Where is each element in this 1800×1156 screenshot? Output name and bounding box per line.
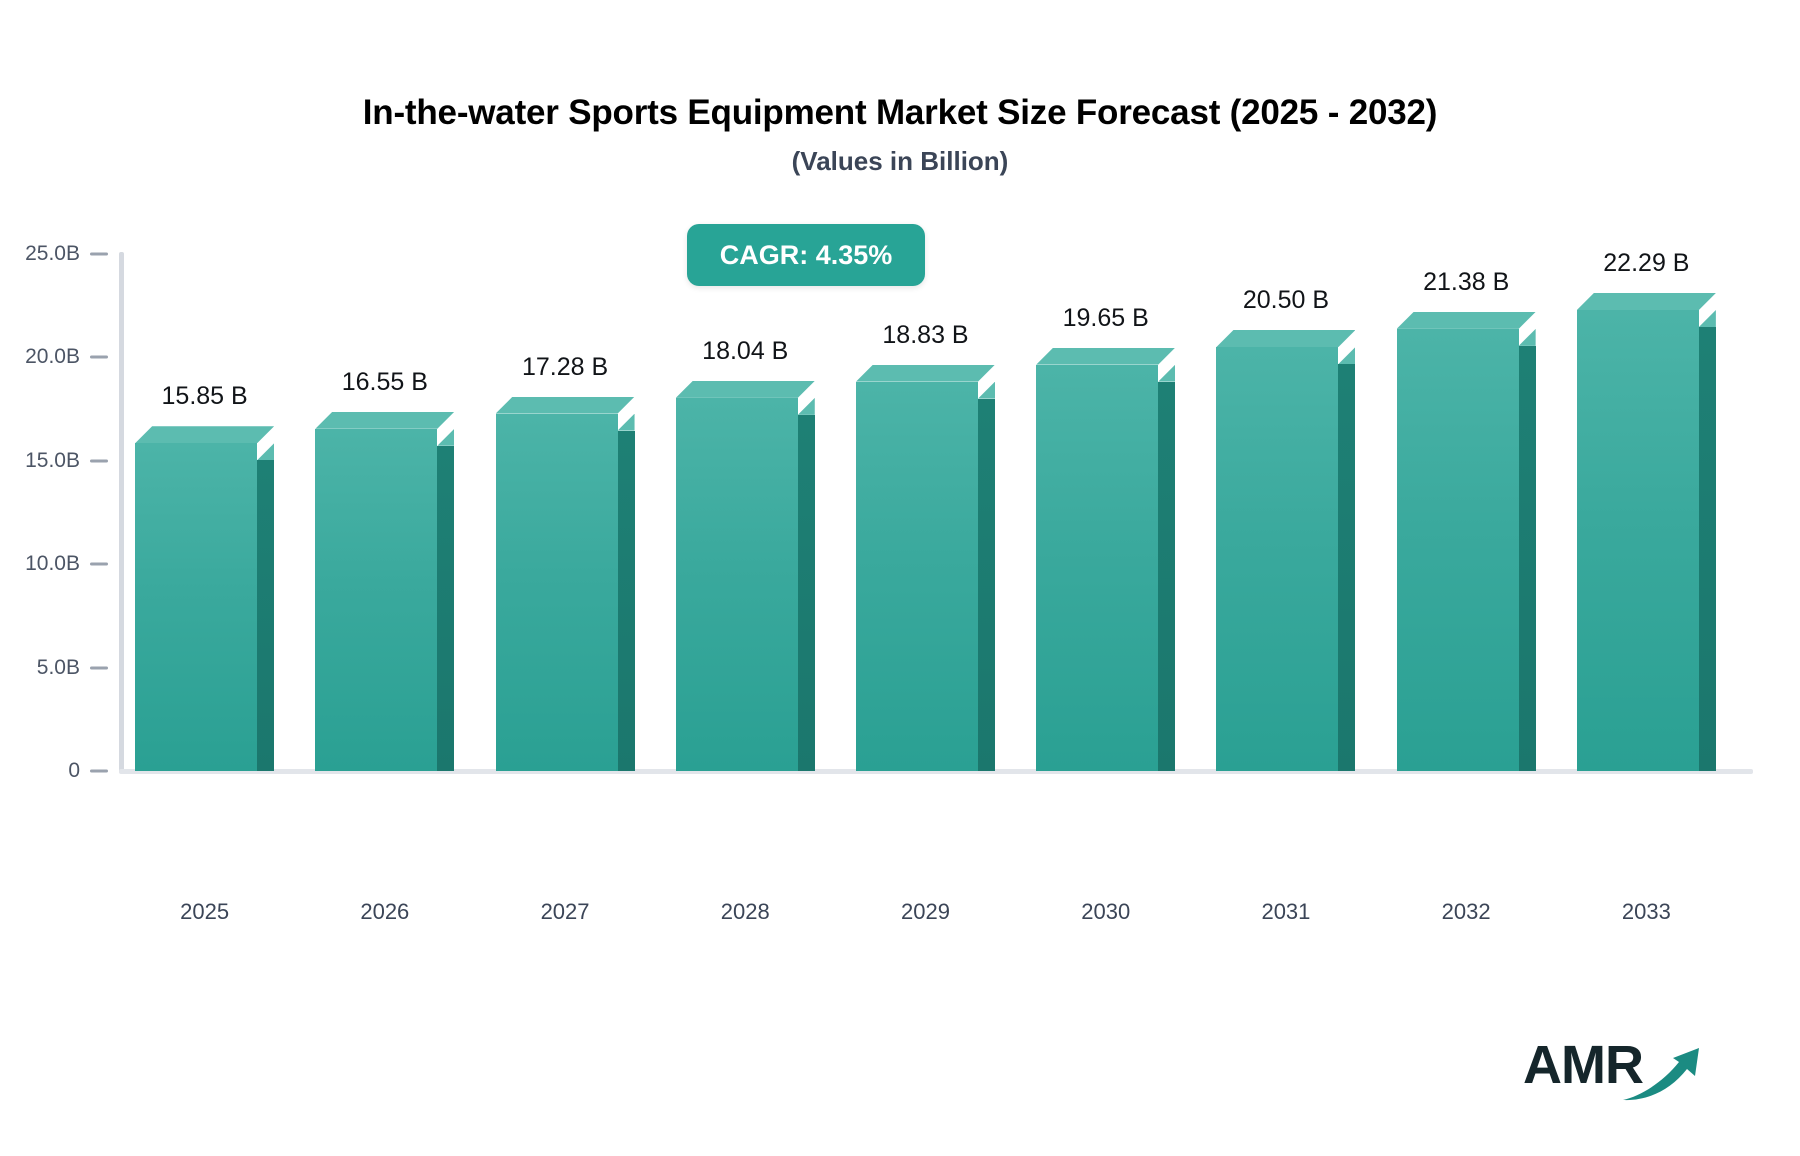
bar-top-face [676,381,815,398]
bar-side-face [1338,364,1355,771]
bar-front-face [856,382,978,771]
bar-top-face-corner [1158,365,1175,382]
bar[interactable] [135,443,257,771]
bar[interactable] [1577,310,1699,771]
bar[interactable] [496,414,618,771]
bar-side-face [798,415,815,771]
bar-top-face-corner [618,414,635,431]
bar-top-face-corner [257,443,274,460]
bar-front-face [1216,347,1338,771]
bar[interactable] [856,382,978,771]
y-axis-tick-mark [90,770,108,773]
bar-top-face-corner [798,398,815,415]
bar-side-face [618,431,635,771]
x-axis-tick-label: 2026 [285,899,485,925]
x-axis-tick-label: 2031 [1186,899,1386,925]
bar-top-face-corner [978,382,995,399]
x-axis-tick-label: 2028 [645,899,845,925]
bar-value-label: 22.29 B [1516,249,1776,278]
y-axis-tick-mark [90,253,108,256]
x-axis-tick-label: 2032 [1366,899,1566,925]
x-axis-tick-label: 2030 [1006,899,1206,925]
y-axis-tick-label: 5.0B [37,656,80,680]
y-axis-tick-label: 25.0B [25,242,80,266]
bar-side-face [437,446,454,771]
x-axis-tick-label: 2029 [826,899,1026,925]
y-axis-tick-label: 15.0B [25,449,80,473]
bar[interactable] [315,429,437,771]
bar-front-face [135,443,257,771]
bar[interactable] [1397,329,1519,771]
bar-top-face [1216,330,1355,347]
bar[interactable] [1216,347,1338,771]
y-axis-tick-label: 0 [68,759,80,783]
bar-top-face [496,397,635,414]
bar-top-face [1397,312,1536,329]
bar-side-face [1158,382,1175,771]
bar-front-face [676,398,798,771]
bar-front-face [1397,329,1519,771]
bar-top-face-corner [437,429,454,446]
y-axis-line [119,252,124,773]
x-axis-tick-label: 2033 [1546,899,1746,925]
y-axis-tick-label: 20.0B [25,345,80,369]
y-axis-tick-mark [90,563,108,566]
bar-side-face [1519,346,1536,771]
y-axis-tick-mark [90,459,108,462]
bar-top-face [1036,348,1175,365]
bar[interactable] [1036,365,1158,771]
x-axis-tick-label: 2025 [105,899,305,925]
bar-top-face-corner [1519,329,1536,346]
amr-logo: AMR [1523,1038,1723,1108]
x-axis-tick-label: 2027 [465,899,665,925]
y-axis-tick-mark [90,666,108,669]
bar-side-face [978,399,995,771]
bar-front-face [315,429,437,771]
bar-front-face [1577,310,1699,771]
bar-side-face [1699,327,1716,771]
chart-container: In-the-water Sports Equipment Market Siz… [0,0,1800,1156]
bar-front-face [1036,365,1158,771]
bar-top-face-corner [1338,347,1355,364]
bar-top-face-corner [1699,310,1716,327]
bar-top-face [1577,293,1716,310]
bar[interactable] [676,398,798,771]
bar-top-face [135,426,274,443]
growth-arrow-icon [1523,1038,1723,1108]
plot-area: 05.0B10.0B15.0B20.0B25.0B 15.85 B16.55 B… [0,0,1800,1156]
bar-side-face [257,460,274,771]
bar-top-face [315,412,454,429]
bar-front-face [496,414,618,771]
y-axis-tick-label: 10.0B [25,552,80,576]
bar-top-face [856,365,995,382]
y-axis-tick-mark [90,356,108,359]
